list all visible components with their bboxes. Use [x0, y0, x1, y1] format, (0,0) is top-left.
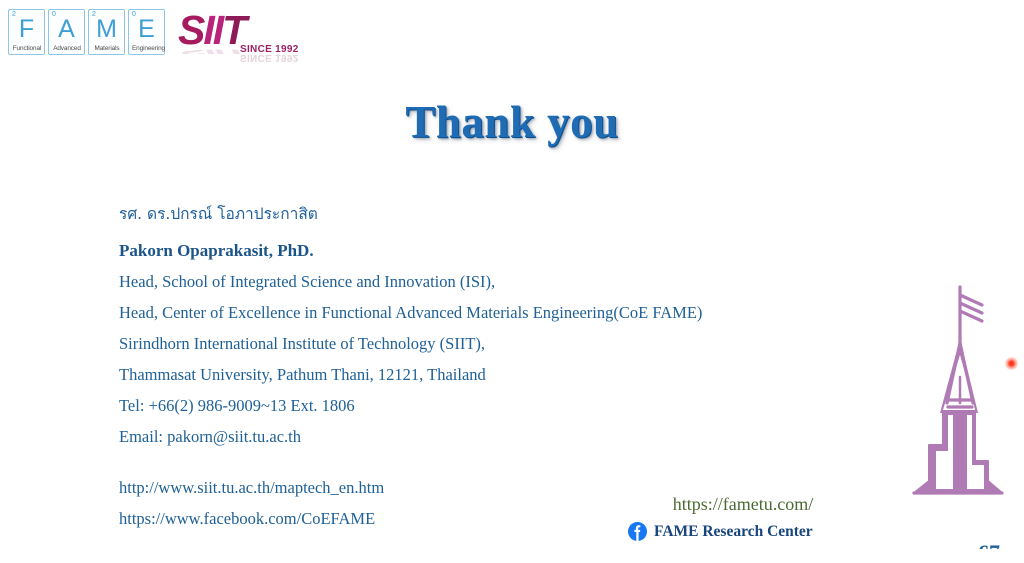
- fame-cell-engineering: 0 E Engineering: [128, 9, 165, 55]
- contact-address: Thammasat University, Pathum Thani, 1212…: [119, 359, 819, 390]
- contact-telephone: Tel: +66(2) 986-9009~13 Ext. 1806: [119, 390, 819, 421]
- slide-title: Thank you: [0, 96, 1024, 148]
- fame-cell-functional: 2 F Functional: [8, 9, 45, 55]
- spacer: [119, 228, 819, 235]
- web-links-block: https://fametu.com/ FAME Research Center: [628, 492, 858, 541]
- laser-pointer-dot: [1005, 357, 1018, 370]
- facebook-icon: [628, 522, 647, 541]
- contact-block: รศ. ดร.ปกรณ์ โอภาประกาสิต Pakorn Opaprak…: [119, 200, 819, 534]
- contact-name: Pakorn Opaprakasit, PhD.: [119, 235, 819, 266]
- facebook-page-row[interactable]: FAME Research Center: [628, 522, 858, 541]
- fame-cell-materials: 2 M Materials: [88, 9, 125, 55]
- fame-cell-letter: E: [129, 15, 164, 43]
- siit-logo-since-reflection: SINCE 1992: [240, 52, 299, 63]
- fame-logo: 2 F Functional 0 A Advanced 2 M Material…: [8, 9, 165, 55]
- contact-thai-name: รศ. ดร.ปกรณ์ โอภาประกาสิต: [119, 200, 819, 228]
- fame-cell-letter: F: [9, 15, 44, 43]
- fame-cell-letter: M: [89, 15, 124, 43]
- contact-institute: Sirindhorn International Institute of Te…: [119, 328, 819, 359]
- spacer: [119, 452, 819, 472]
- fametu-website-link[interactable]: https://fametu.com/: [628, 492, 858, 516]
- siit-tower-graphic: [898, 285, 1018, 503]
- siit-logo: SIIT SINCE 1992 SIIT SINCE 1992: [178, 10, 302, 62]
- fame-cell-word: Materials: [92, 45, 122, 53]
- fame-cell-advanced: 0 A Advanced: [48, 9, 85, 55]
- siit-logo-ii: II: [203, 7, 222, 53]
- contact-email[interactable]: Email: pakorn@siit.tu.ac.th: [119, 421, 819, 452]
- horizontal-scrollbar-track[interactable]: [0, 549, 1024, 563]
- siit-logo-s: S: [178, 7, 203, 53]
- fame-cell-word: Advanced: [52, 45, 82, 53]
- contact-role-isi: Head, School of Integrated Science and I…: [119, 266, 819, 297]
- fame-cell-letter: A: [49, 15, 84, 43]
- facebook-page-name: FAME Research Center: [654, 522, 813, 541]
- fame-cell-word: Functional: [12, 45, 42, 53]
- presentation-slide: 2 F Functional 0 A Advanced 2 M Material…: [0, 0, 1024, 563]
- fame-cell-word: Engineering: [132, 45, 162, 53]
- contact-role-coefame: Head, Center of Excellence in Functional…: [119, 297, 819, 328]
- siit-logo-wordmark: SIIT: [178, 10, 245, 51]
